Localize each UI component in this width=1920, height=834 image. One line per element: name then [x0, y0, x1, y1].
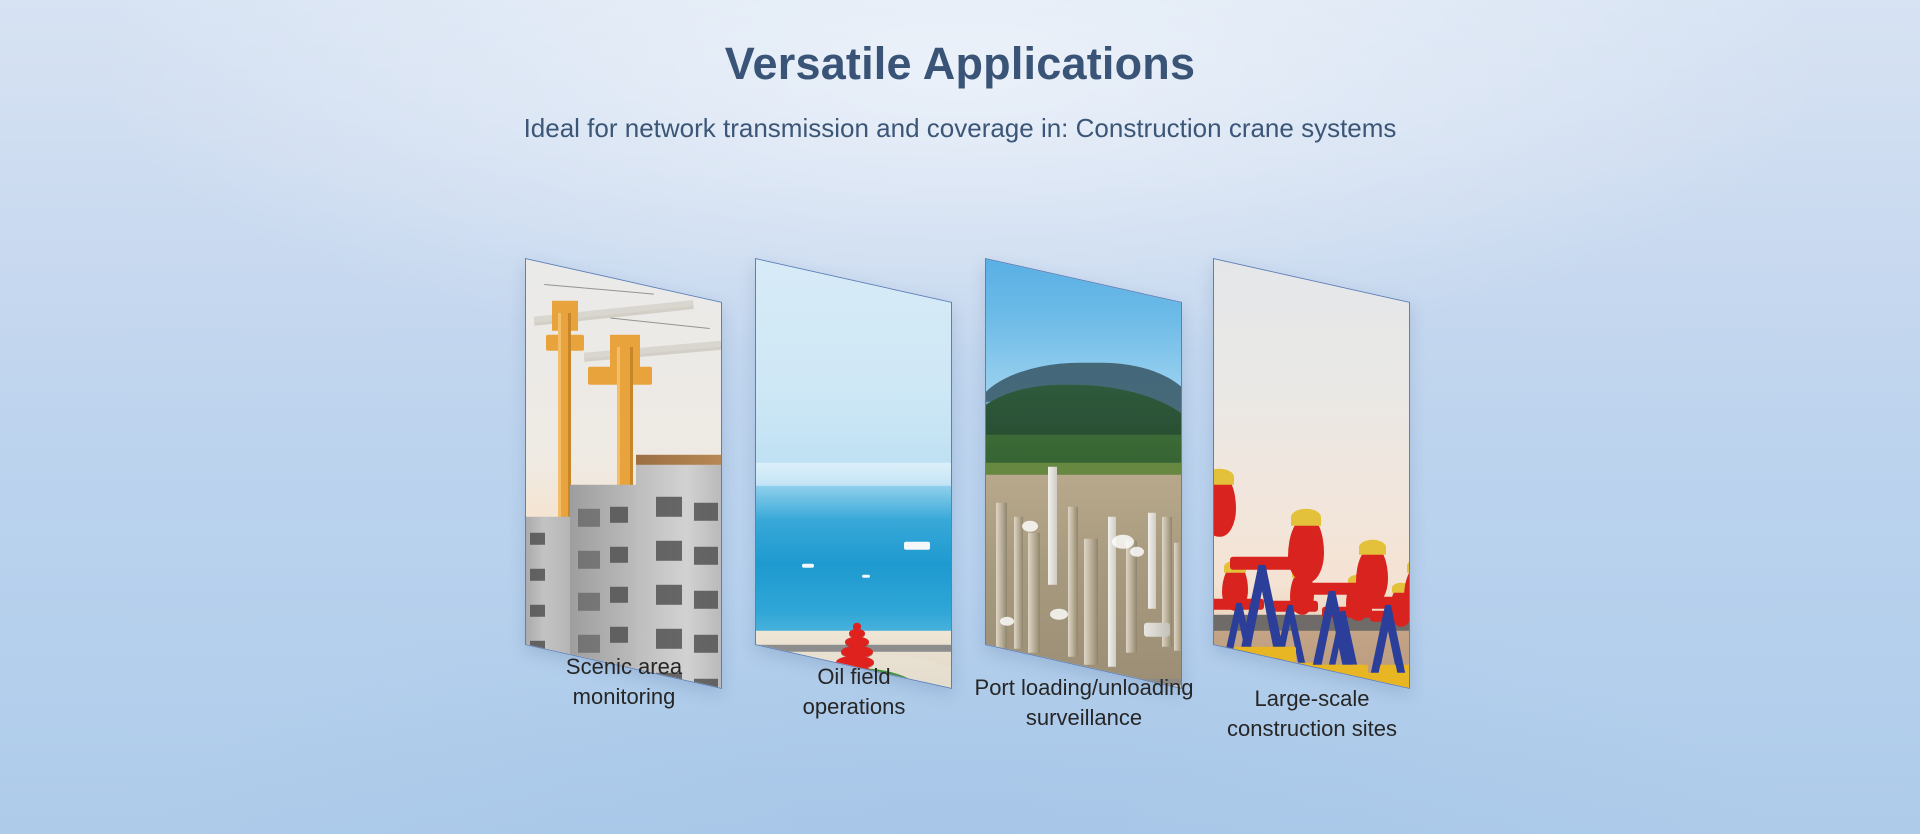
application-gallery: Scenic area monitoring — [525, 250, 1425, 710]
refinery-plant-photo — [985, 258, 1182, 689]
versatile-applications-section: Versatile Applications Ideal for network… — [0, 0, 1920, 834]
seaside-scenic-square-photo — [755, 258, 952, 689]
panel-frame[interactable] — [525, 258, 722, 689]
section-header: Versatile Applications Ideal for network… — [0, 0, 1920, 146]
caption-line-1: Large-scale — [1179, 684, 1445, 714]
oil-pumpjack-photo — [1213, 258, 1410, 689]
page-subtitle: Ideal for network transmission and cover… — [0, 112, 1920, 146]
construction-crane-photo — [525, 258, 722, 689]
panel-frame[interactable] — [1213, 258, 1410, 689]
panel-frame[interactable] — [985, 258, 1182, 689]
panel-frame[interactable] — [755, 258, 952, 689]
gallery-item-caption: Large-scale construction sites — [1179, 684, 1445, 744]
caption-line-2: construction sites — [1179, 714, 1445, 744]
gallery-item-oil-field-operations[interactable]: Oil field operations — [755, 250, 952, 640]
gallery-item-scenic-area-monitoring[interactable]: Scenic area monitoring — [525, 250, 722, 640]
gallery-item-large-scale-construction-sites[interactable]: Large-scale construction sites — [1213, 250, 1410, 640]
gallery-item-port-loading-unloading-surveillance[interactable]: Port loading/unloading surveillance — [985, 250, 1182, 640]
page-title: Versatile Applications — [0, 38, 1920, 90]
